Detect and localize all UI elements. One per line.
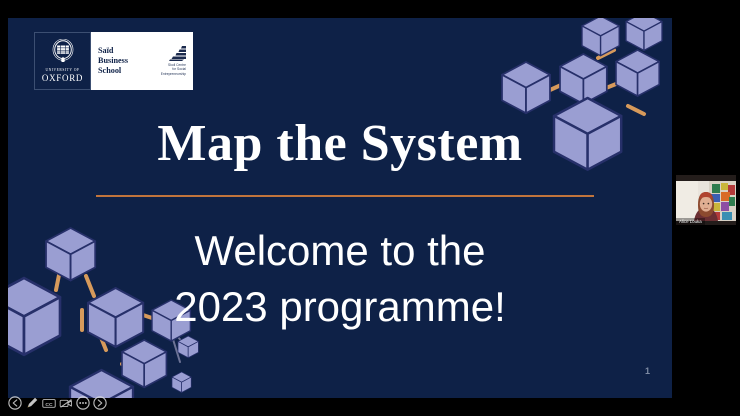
more-options-icon[interactable] (76, 396, 90, 410)
meeting-toolbar[interactable]: CC (8, 396, 107, 410)
title-divider-rule (96, 195, 594, 197)
oxford-university-logo: UNIVERSITY OF OXFORD (34, 32, 91, 90)
participant-name-label: Alice Louka (676, 218, 705, 225)
said-skoll-logo-panel: Saïd Business School (91, 32, 193, 90)
svg-text:CC: CC (45, 401, 53, 407)
forward-arrow-icon[interactable] (93, 396, 107, 410)
slide-subtitle: Welcome to the 2023 programme! (8, 223, 672, 335)
sbs-line-2: Business (98, 56, 128, 66)
oxford-crest-icon (50, 39, 76, 65)
closed-caption-icon[interactable]: CC (42, 396, 56, 410)
slide-title: Map the System (8, 114, 672, 173)
pen-annotate-icon[interactable] (25, 396, 39, 410)
participant-video-tile[interactable]: Alice Louka (676, 175, 736, 225)
presentation-slide[interactable]: UNIVERSITY OF OXFORD Saïd Business Schoo… (8, 18, 672, 398)
skoll-centre-logo: Skoll Centre for Social Entrepreneurship (161, 46, 186, 76)
skoll-stripes-icon (169, 46, 186, 61)
slide-page-number: 1 (645, 366, 650, 376)
back-arrow-icon[interactable] (8, 396, 22, 410)
sbs-line-3: School (98, 66, 128, 76)
skoll-line-3: Entrepreneurship (161, 72, 186, 76)
skoll-centre-wordmark: Skoll Centre for Social Entrepreneurship (161, 63, 186, 76)
oxford-wordmark: OXFORD (42, 73, 83, 83)
video-off-icon[interactable] (59, 396, 73, 410)
logo-lockup: UNIVERSITY OF OXFORD Saïd Business Schoo… (34, 32, 193, 90)
subtitle-line-1: Welcome to the (8, 223, 672, 279)
said-business-school-wordmark: Saïd Business School (98, 46, 128, 75)
oxford-university-line: UNIVERSITY OF (45, 68, 79, 72)
screen-capture: UNIVERSITY OF OXFORD Saïd Business Schoo… (0, 0, 740, 416)
sbs-line-1: Saïd (98, 46, 128, 56)
subtitle-line-2: 2023 programme! (8, 279, 672, 335)
